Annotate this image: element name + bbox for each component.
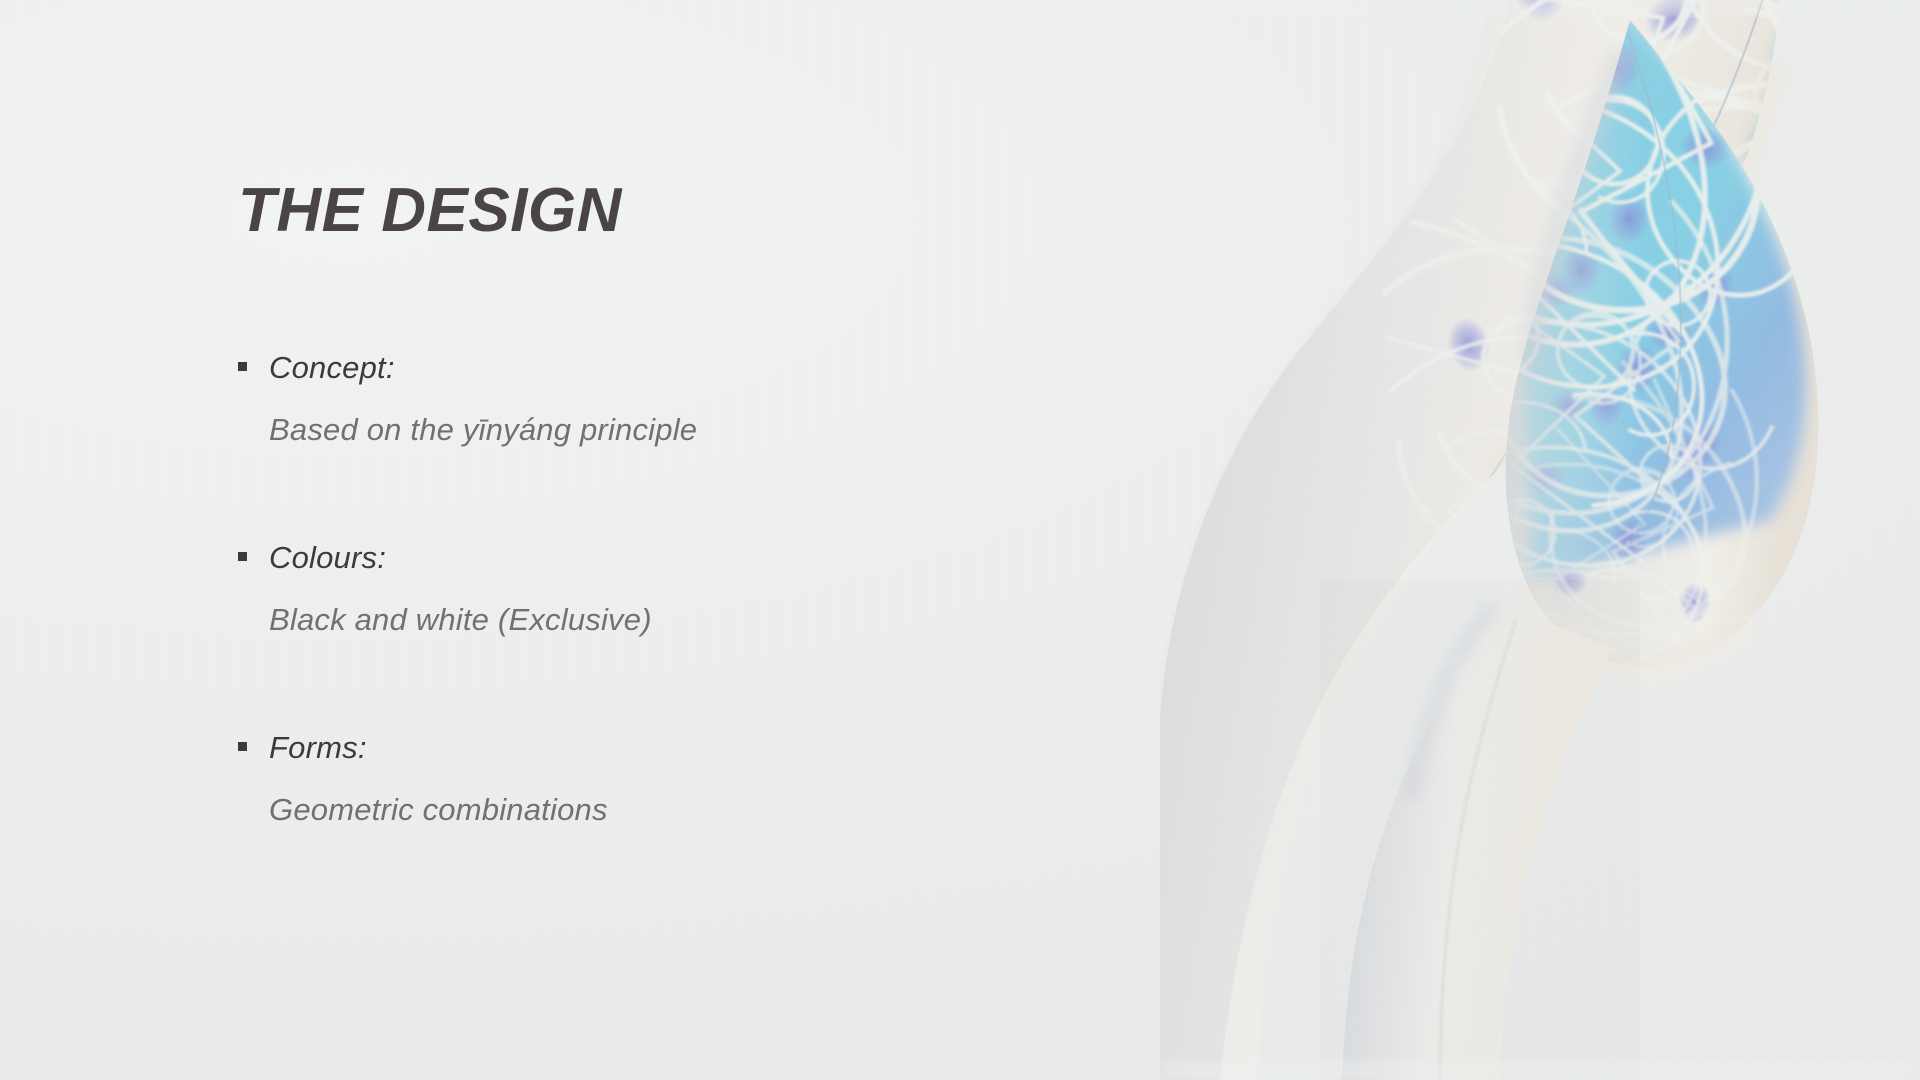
bullet-description-colours: Black and white (Exclusive): [269, 602, 1058, 638]
square-bullet-icon: [238, 742, 247, 751]
bullet-row: Colours:: [238, 540, 1058, 576]
bullet-list: Concept: Based on the yīnyáng principle …: [238, 350, 1058, 828]
bullet-description-forms: Geometric combinations: [269, 792, 1058, 828]
square-bullet-icon: [238, 362, 247, 371]
bullet-label-concept: Concept:: [269, 350, 395, 386]
list-item: Colours: Black and white (Exclusive): [238, 540, 1058, 638]
list-item: Concept: Based on the yīnyáng principle: [238, 350, 1058, 448]
list-item: Forms: Geometric combinations: [238, 730, 1058, 828]
bullet-label-colours: Colours:: [269, 540, 386, 576]
bullet-row: Concept:: [238, 350, 1058, 386]
slide-content: THE DESIGN Concept: Based on the yīnyáng…: [238, 180, 1058, 828]
bullet-label-forms: Forms:: [269, 730, 367, 766]
bullet-description-concept: Based on the yīnyáng principle: [269, 412, 1058, 448]
bullet-row: Forms:: [238, 730, 1058, 766]
square-bullet-icon: [238, 552, 247, 561]
page-title: THE DESIGN: [238, 180, 1058, 242]
